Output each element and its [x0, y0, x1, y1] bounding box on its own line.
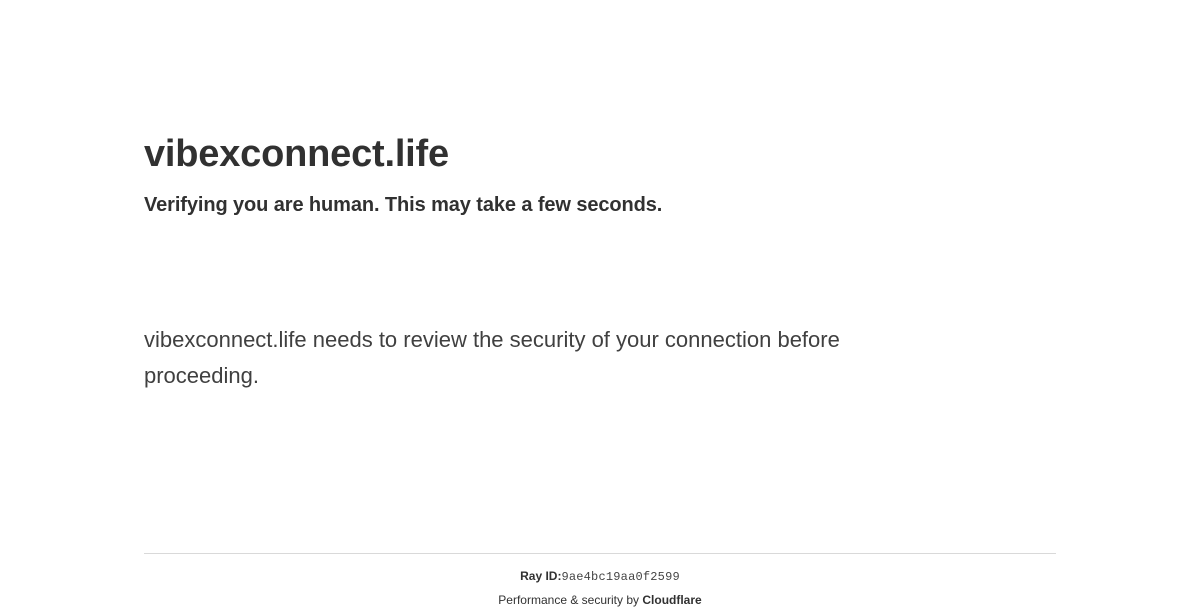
cloudflare-link[interactable]: Cloudflare	[642, 593, 701, 607]
attribution-prefix: Performance & security by	[498, 593, 642, 607]
attribution-line: Performance & security by Cloudflare	[144, 585, 1056, 608]
challenge-description: vibexconnect.life needs to review the se…	[144, 322, 944, 394]
ray-id-line: Ray ID:9ae4bc19aa0f2599	[144, 554, 1056, 585]
turnstile-challenge-widget[interactable]	[144, 231, 454, 305]
challenge-page: vibexconnect.life Verifying you are huma…	[0, 0, 1200, 600]
challenge-content: vibexconnect.life Verifying you are huma…	[144, 0, 1056, 553]
verification-status-text: Verifying you are human. This may take a…	[144, 191, 662, 219]
ray-id-label: Ray ID:	[520, 569, 561, 583]
ray-id-value: 9ae4bc19aa0f2599	[561, 570, 679, 584]
page-title: vibexconnect.life	[144, 131, 449, 177]
